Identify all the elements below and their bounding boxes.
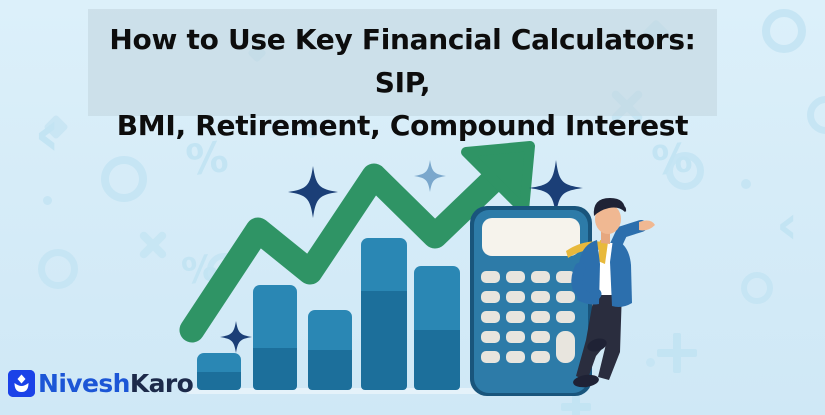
person-hand [639, 221, 655, 231]
logo-mark-svg [8, 370, 35, 397]
calculator-key[interactable] [531, 291, 550, 303]
logo-text-primary: Nivesh [38, 369, 130, 398]
calculator-key[interactable] [506, 311, 525, 323]
calculator-key[interactable] [506, 291, 525, 303]
logo-text-secondary: Karo [130, 369, 193, 398]
calculator-key[interactable] [531, 331, 550, 343]
calculator-key[interactable] [506, 331, 525, 343]
calculator-key[interactable] [481, 311, 500, 323]
poster-canvas: % % % ‹ ‹ .cross i{position:absolute;bac… [0, 0, 825, 415]
calculator-key[interactable] [506, 271, 525, 283]
person-jacket [610, 239, 632, 307]
calculator-key[interactable] [481, 291, 500, 303]
niveshkaro-diamond-drop-icon [8, 370, 35, 397]
calculator-key[interactable] [481, 271, 500, 283]
calculator-key[interactable] [531, 351, 550, 363]
calculator-person-layer [0, 0, 825, 415]
logo-wordmark: NiveshKaro [38, 369, 193, 398]
calculator-key[interactable] [556, 311, 575, 323]
calculator-key[interactable] [531, 311, 550, 323]
calculator-display [482, 218, 580, 256]
calculator-key[interactable] [556, 291, 575, 303]
calculator-key[interactable] [481, 351, 500, 363]
calculator [470, 206, 592, 396]
calculator-key[interactable] [481, 331, 500, 343]
calculator-key[interactable] [506, 351, 525, 363]
calculator-key-enter[interactable] [556, 331, 575, 363]
site-logo[interactable]: NiveshKaro [8, 369, 193, 398]
calculator-key[interactable] [531, 271, 550, 283]
